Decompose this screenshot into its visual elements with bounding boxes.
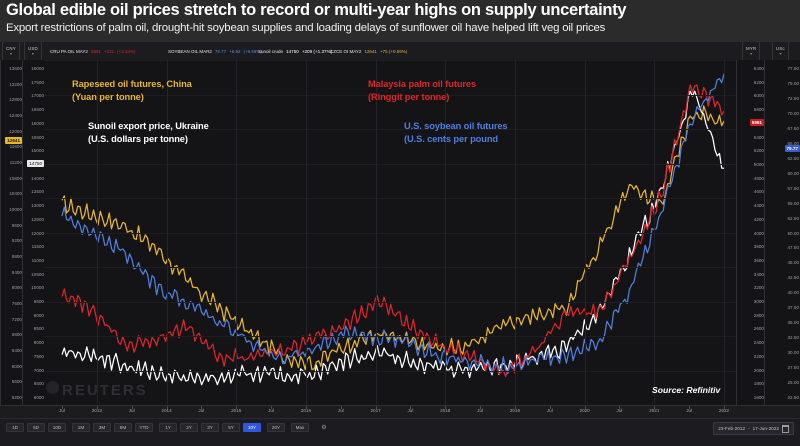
axis-tick-label: 25.00 <box>788 380 800 386</box>
axis-tick-label: 4400 <box>754 203 764 209</box>
ticker-symbol: SOYBEAN OIL MAR2 <box>168 49 212 54</box>
axis-tick-label: 32.50 <box>788 335 800 341</box>
axis-tick-label: 67.50 <box>788 126 800 132</box>
axis-tick-label: 37.50 <box>788 305 800 311</box>
axis-tick-label: 1600 <box>754 395 764 401</box>
axis-current-value-marker: 14750 <box>27 160 44 167</box>
axis-tick-label: 4200 <box>754 217 764 223</box>
page-subtitle: Export restrictions of palm oil, drought… <box>6 22 605 34</box>
axis-tick-label: 8800 <box>12 254 22 260</box>
ticker-change: +131 <box>104 49 114 54</box>
axis-tick-label: 47.50 <box>788 245 800 251</box>
range-button-1y[interactable]: 1Y <box>159 423 177 432</box>
axis-tick-label: 13200 <box>9 82 22 88</box>
date-range-from: 23-Feb-2012 <box>718 426 745 431</box>
axis-tick-label: 12500 <box>31 217 44 223</box>
reuters-logo-icon <box>46 381 59 394</box>
axis-tick-label: 70.00 <box>788 111 800 117</box>
axis-tick-label: 12400 <box>9 113 22 119</box>
axis-tick-label: 35.00 <box>788 320 800 326</box>
y-axis-left-usd[interactable]: 1800017500170001650016000155001500014500… <box>22 60 46 405</box>
axis-tick-label: 8000 <box>12 285 22 291</box>
grid-line-vertical <box>167 60 168 405</box>
axis-tick-label: 5000 <box>754 162 764 168</box>
axis-tick-label: 3800 <box>754 244 764 250</box>
ticker-change: +75 (+0.59%) <box>380 49 407 54</box>
axis-current-value-marker: 5991 <box>750 119 764 126</box>
axis-tick-label: 62.50 <box>788 156 800 162</box>
axis-tick-label: 3200 <box>754 285 764 291</box>
ticker-change: +6.92 <box>229 49 240 54</box>
axis-tick-label: 22.50 <box>788 395 800 401</box>
axis-tick-label: 11500 <box>32 244 44 250</box>
axis-tick-label: 57.50 <box>788 186 800 192</box>
range-button-20y[interactable]: 20Y <box>267 423 285 432</box>
axis-tick-label: 11200 <box>10 160 22 166</box>
x-axis-tick <box>236 406 237 409</box>
axis-tick-label: 16000 <box>31 121 44 127</box>
ticker-bar: CNY ▾ USD ▾ CRU PA OIL MAY2 5991 +131 (+… <box>0 42 800 61</box>
chart-toolbar: 23-Feb-2012 - 17-Jun-2022 1D5D10D1M3M6MY… <box>0 418 800 446</box>
grid-line-horizontal <box>44 336 736 337</box>
grid-line-vertical <box>515 60 516 405</box>
axis-tick-label: 2800 <box>754 313 764 319</box>
currency-selector-usd[interactable]: USD ▾ <box>24 42 42 60</box>
gear-icon[interactable]: ⚙ <box>315 423 333 432</box>
axis-tick-label: 15000 <box>31 148 44 154</box>
axis-tick-label: 50.00 <box>788 231 800 237</box>
x-axis-tick <box>724 406 725 409</box>
grid-line-horizontal <box>44 164 736 165</box>
annotation-soybean-line2: (U.S. cents per pound <box>404 133 498 146</box>
x-axis-tick <box>410 406 411 409</box>
x-axis[interactable]: Jul2013Jul2014Jul2015Jul2016Jul2017Jul20… <box>0 405 800 419</box>
grid-line-vertical <box>376 60 377 405</box>
y-axis-right-usc[interactable]: 77.5075.0072.5070.0067.5065.0062.5060.00… <box>764 60 800 405</box>
annotation-sunoil-line1: Sunoil export price, Ukraine <box>88 120 209 133</box>
axis-tick-label: 2200 <box>754 354 764 360</box>
x-axis-tick <box>97 406 98 409</box>
axis-tick-label: 13000 <box>31 203 44 209</box>
axis-tick-label: 10500 <box>31 272 44 278</box>
ticker-last: 12641 <box>364 49 377 54</box>
axis-unit-usc[interactable]: USc ▾ <box>772 42 789 60</box>
axis-tick-label: 10800 <box>9 176 22 182</box>
reuters-watermark: REUTERS <box>62 382 148 399</box>
ticker-item-rapeseed-palm[interactable]: CRU PA OIL MAY2 5991 +131 (+2.24%) <box>50 42 135 60</box>
axis-tick-label: 77.50 <box>788 66 800 72</box>
x-axis-tick <box>306 406 307 409</box>
grid-line-vertical <box>654 60 655 405</box>
grid-line-horizontal <box>44 302 736 303</box>
axis-tick-label: 3000 <box>754 299 764 305</box>
page-title: Global edible oil prices stretch to reco… <box>6 1 626 20</box>
x-axis-tick <box>619 406 620 409</box>
axis-tick-label: 45.00 <box>788 260 800 266</box>
axis-tick-label: 5800 <box>754 107 764 113</box>
ticker-change: +209 (+1.37%) <box>302 49 332 54</box>
axis-tick-label: 5200 <box>12 395 22 401</box>
axis-tick-label: 6500 <box>34 381 44 387</box>
range-button-6m[interactable]: 6M <box>114 423 132 432</box>
grid-line-vertical <box>724 60 725 405</box>
range-button-1m[interactable]: 1M <box>72 423 90 432</box>
axis-tick-label: 9000 <box>34 313 44 319</box>
axis-tick-label: 72.50 <box>788 96 800 102</box>
axis-tick-label: 4800 <box>754 176 764 182</box>
axis-tick-label: 13500 <box>31 189 44 195</box>
grid-line-vertical <box>306 60 307 405</box>
ticker-symbol: Sunoil crude <box>258 49 283 54</box>
axis-tick-label: 42.50 <box>788 275 800 281</box>
axis-tick-label: 6000 <box>34 395 44 401</box>
headline-banner: Global edible oil prices stretch to reco… <box>0 0 800 42</box>
axis-tick-label: 2600 <box>754 326 764 332</box>
x-axis-tick <box>480 406 481 409</box>
x-axis-tick <box>654 406 655 409</box>
axis-tick-label: 12000 <box>9 129 22 135</box>
axis-tick-label: 17000 <box>31 93 44 99</box>
x-axis-tick <box>201 406 202 409</box>
axis-tick-label: 52.50 <box>788 216 800 222</box>
range-button-ytd[interactable]: YTD <box>135 423 153 432</box>
axis-tick-label: 6400 <box>754 66 764 72</box>
range-button-max[interactable]: Max <box>291 423 309 432</box>
axis-tick-label: 1800 <box>754 381 764 387</box>
x-axis-tick <box>585 406 586 409</box>
ticker-last: 14750 <box>286 49 299 54</box>
axis-tick-label: 12000 <box>31 231 44 237</box>
range-button-2y[interactable]: 2Y <box>180 423 198 432</box>
chevron-down-icon: ▾ <box>10 51 12 56</box>
axis-tick-label: 9500 <box>34 299 44 305</box>
axis-tick-label: 6800 <box>12 332 22 338</box>
axis-current-value-marker: 12641 <box>5 137 22 144</box>
grid-line-horizontal <box>44 60 736 61</box>
axis-tick-label: 11600 <box>10 144 22 150</box>
axis-tick-label: 10400 <box>9 191 22 197</box>
axis-tick-label: 5600 <box>12 379 22 385</box>
axis-tick-label: 2000 <box>754 368 764 374</box>
x-axis-tick <box>271 406 272 409</box>
x-axis-tick <box>515 406 516 409</box>
axis-tick-label: 10000 <box>31 285 44 291</box>
ticker-item-sunoil[interactable]: Sunoil crude 14750 +209 (+1.37%) <box>258 42 332 60</box>
axis-tick-label: 60.00 <box>788 171 800 177</box>
axis-tick-label: 30.00 <box>788 350 800 356</box>
axis-current-value-marker: 79.77 <box>785 145 800 152</box>
axis-unit-myr[interactable]: MYR ▾ <box>742 42 760 60</box>
ticker-item-czce-oi[interactable]: CZCE OI MAY2 12641 +75 (+0.59%) <box>330 42 407 60</box>
axis-tick-label: 2400 <box>754 340 764 346</box>
grid-line-horizontal <box>44 267 736 268</box>
grid-line-vertical <box>97 60 98 405</box>
axis-tick-label: 3400 <box>754 272 764 278</box>
axis-tick-label: 6000 <box>12 364 22 370</box>
annotation-rapeseed-line2: (Yuan per tonne) <box>72 91 144 104</box>
range-button-10y[interactable]: 10Y <box>243 423 261 432</box>
chevron-down-icon: ▾ <box>750 51 752 56</box>
axis-tick-label: 4600 <box>754 189 764 195</box>
axis-tick-label: 14000 <box>31 176 44 182</box>
chevron-down-icon: ▾ <box>32 51 34 56</box>
x-axis-tick <box>62 406 63 409</box>
range-button-3y[interactable]: 3Y <box>201 423 219 432</box>
axis-tick-label: 17500 <box>31 80 44 86</box>
grid-line-vertical <box>236 60 237 405</box>
axis-tick-label: 55.00 <box>788 201 800 207</box>
axis-tick-label: 13600 <box>9 66 22 72</box>
y-axis-left-cny[interactable]: 1360013200128001240012000116001120010800… <box>0 60 24 405</box>
ticker-item-soybean-oil[interactable]: SOYBEAN OIL MAR2 79.77 +6.92 (+9.58%) <box>168 42 262 60</box>
axis-tick-label: 6400 <box>12 348 22 354</box>
axis-tick-label: 15500 <box>31 135 44 141</box>
y-axis-right-myr[interactable]: 6400620060005800560054005200500048004600… <box>736 60 766 405</box>
x-axis-tick <box>445 406 446 409</box>
axis-tick-label: 8000 <box>34 340 44 346</box>
grid-line-vertical <box>445 60 446 405</box>
axis-tick-label: 18000 <box>31 66 44 72</box>
currency-selector-cny[interactable]: CNY ▾ <box>2 42 20 60</box>
annotation-rapeseed-line1: Rapeseed oil futures, China <box>72 78 192 91</box>
axis-tick-label: 8400 <box>12 270 22 276</box>
annotation-sunoil-line2: (U.S. dollars per tonne) <box>88 133 188 146</box>
ticker-symbol: CZCE OI MAY2 <box>330 49 361 54</box>
axis-tick-label: 10000 <box>9 207 22 213</box>
grid-line-vertical <box>585 60 586 405</box>
axis-tick-label: 5400 <box>754 135 764 141</box>
x-axis-tick <box>341 406 342 409</box>
annotation-soybean-line1: U.S. soybean oil futures <box>404 120 508 133</box>
annotation-palm-line2: (Ringgit per tonne) <box>368 91 449 104</box>
x-axis-tick <box>167 406 168 409</box>
date-range-picker[interactable]: 23-Feb-2012 - 17-Jun-2022 <box>713 422 794 435</box>
grid-line-horizontal <box>44 233 736 234</box>
axis-tick-label: 16500 <box>31 107 44 113</box>
series-line-u-s-soybean-oil-futures <box>62 74 724 374</box>
ticker-last: 79.77 <box>215 49 226 54</box>
source-credit: Source: Refinitiv <box>652 385 720 395</box>
axis-tick-label: 4000 <box>754 231 764 237</box>
axis-tick-label: 9200 <box>12 238 22 244</box>
date-range-separator: - <box>748 426 750 431</box>
axis-tick-label: 8500 <box>34 326 44 332</box>
chart-screenshot: Global edible oil prices stretch to reco… <box>0 0 800 445</box>
axis-tick-label: 75.00 <box>788 81 800 87</box>
range-button-3m[interactable]: 3M <box>93 423 111 432</box>
range-button-5y[interactable]: 5Y <box>222 423 240 432</box>
axis-tick-label: 5200 <box>754 148 764 154</box>
range-button-5d[interactable]: 5D <box>27 423 45 432</box>
x-axis-tick <box>376 406 377 409</box>
date-range-to: 17-Jun-2022 <box>753 426 779 431</box>
calendar-icon[interactable] <box>782 425 789 433</box>
x-axis-tick <box>132 406 133 409</box>
axis-tick-label: 7000 <box>34 368 44 374</box>
ticker-symbol: CRU PA OIL MAY2 <box>50 49 88 54</box>
axis-tick-label: 7500 <box>34 354 44 360</box>
axis-tick-label: 3600 <box>754 258 764 264</box>
axis-tick-label: 11000 <box>32 258 44 264</box>
ticker-last: 5991 <box>91 49 101 54</box>
x-axis-tick <box>550 406 551 409</box>
range-button-1d[interactable]: 1D <box>6 423 24 432</box>
x-axis-tick <box>689 406 690 409</box>
axis-tick-label: 27.50 <box>788 365 800 371</box>
axis-tick-label: 6200 <box>754 80 764 86</box>
axis-tick-label: 7200 <box>12 317 22 323</box>
axis-tick-label: 12800 <box>9 97 22 103</box>
price-chart-plot[interactable] <box>44 60 736 405</box>
grid-line-horizontal <box>44 371 736 372</box>
annotation-palm-line1: Malaysia palm oil futures <box>368 78 476 91</box>
chevron-down-icon: ▾ <box>779 51 781 56</box>
range-button-10d[interactable]: 10D <box>48 423 66 432</box>
axis-tick-label: 9600 <box>12 223 22 229</box>
axis-tick-label: 6000 <box>754 93 764 99</box>
ticker-pct: (+2.24%) <box>117 49 135 54</box>
axis-tick-label: 7600 <box>12 301 22 307</box>
grid-line-horizontal <box>44 198 736 199</box>
axis-tick-label: 40.00 <box>788 290 800 296</box>
